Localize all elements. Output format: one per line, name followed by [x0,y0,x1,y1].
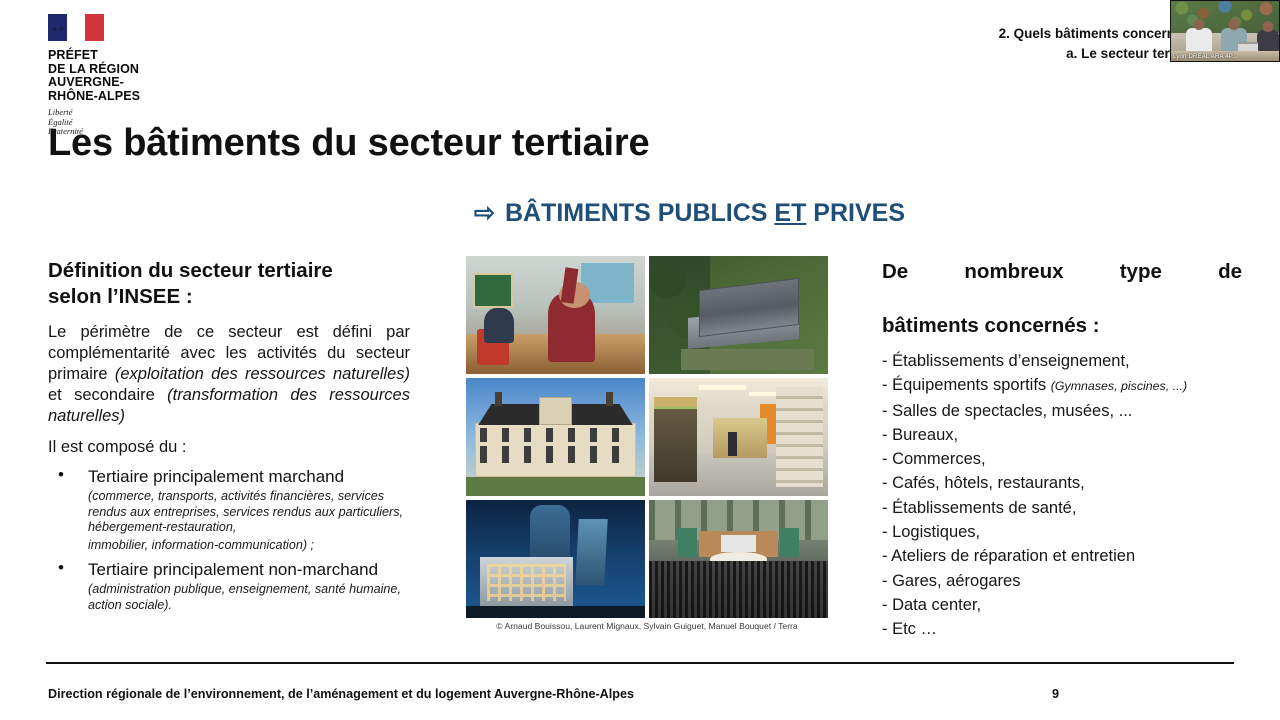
building-type-5: - Cafés, hôtels, restaurants, [882,474,1085,492]
bullet-main-1: Tertiaire principalement non-marchand [88,559,410,580]
building-types-list: - Établissements d’enseignement, - Équip… [882,349,1242,642]
bullet-sub-0: (commerce, transports, activités financi… [88,489,410,536]
photo-mairie [466,378,645,496]
building-type-2: - Salles de spectacles, musées, ... [882,402,1132,420]
webcam-person-1 [1186,28,1212,52]
photo-grid [466,256,828,618]
photo-classroom [466,256,645,374]
right-heading: De nombreux type de bâtiments concernés … [882,258,1242,339]
list-item: - Logistiques, [882,520,1242,544]
building-type-8: - Ateliers de réparation et entretien [882,547,1135,565]
definition-text-b: et secondaire [48,386,167,404]
building-type-3: - Bureaux, [882,426,958,444]
left-heading: Définition du secteur tertiaire selon l’… [48,258,410,310]
building-type-1: - Équipements sportifs [882,376,1051,394]
photo-office-towers [466,500,645,618]
list-item: - Commerces, [882,447,1242,471]
logo-line-1: PRÉFET [48,49,198,63]
bullet-sub-1: (administration publique, enseignement, … [88,582,410,613]
list-item: Tertiaire principalement non-marchand (a… [48,559,410,613]
right-heading-line-1: De nombreux type de [882,258,1242,312]
logo-line-3: AUVERGNE- [48,76,198,90]
compose-label: Il est composé du : [48,438,410,457]
building-type-11: - Etc … [882,620,937,638]
list-item: - Salles de spectacles, musées, ... [882,399,1242,423]
list-item: - Établissements de santé, [882,496,1242,520]
slide-subtitle: ⇨BÂTIMENTS PUBLICS ET PRIVES [474,198,905,228]
logo-line-4: RHÔNE-ALPES [48,90,198,104]
left-column: Définition du secteur tertiaire selon l’… [48,258,410,619]
list-item: - Data center, [882,593,1242,617]
bullet-main-0: Tertiaire principalement marchand [88,466,410,487]
list-item: - Cafés, hôtels, restaurants, [882,471,1242,495]
prefecture-logo: ▲● PRÉFET DE LA RÉGION AUVERGNE- RHÔNE-A… [48,14,198,137]
page-title: Les bâtiments du secteur tertiaire [48,122,649,165]
footer-divider [46,662,1234,664]
building-type-4: - Commerces, [882,450,986,468]
webcam-video-overlay[interactable]: Lyon DREAL ARA 4P... [1170,0,1280,62]
building-type-9: - Gares, aérogares [882,572,1020,590]
photo-supermarket [649,378,828,496]
french-flag-icon: ▲● [48,14,106,42]
building-type-0: - Établissements d’enseignement, [882,352,1130,370]
list-item: - Équipements sportifs (Gymnases, piscin… [882,373,1242,398]
list-item: - Gares, aérogares [882,569,1242,593]
webcam-person-3 [1257,30,1279,52]
left-heading-line-2: selon l’INSEE : [48,285,193,308]
footer-organisation: Direction régionale de l’environnement, … [48,687,634,701]
logo-line-2: DE LA RÉGION [48,63,198,77]
photo-aerial-hospital [649,256,828,374]
slide-root: ▲● PRÉFET DE LA RÉGION AUVERGNE- RHÔNE-A… [0,0,1280,720]
page-number: 9 [1052,687,1059,701]
building-type-10: - Data center, [882,596,981,614]
right-heading-line-2: bâtiments concernés : [882,314,1100,337]
list-item: - Ateliers de réparation et entretien [882,544,1242,568]
subtitle-part-2: PRIVES [806,199,905,227]
sector-bullet-list: Tertiaire principalement marchand (comme… [48,466,410,613]
photo-credit: © Arnaud Bouissou, Laurent Mignaux, Sylv… [466,621,828,631]
subtitle-part-1: BÂTIMENTS PUBLICS [505,199,774,227]
definition-italic-a: (exploitation des ressources naturelles) [115,365,410,383]
building-type-6: - Établissements de santé, [882,499,1076,517]
bullet-sub2-0: immobilier, information-communication) ; [88,538,410,554]
list-item: - Etc … [882,617,1242,641]
photo-conference-hall [649,500,828,618]
subtitle-underlined: ET [774,199,806,227]
prefecture-name: PRÉFET DE LA RÉGION AUVERGNE- RHÔNE-ALPE… [48,49,198,103]
list-item: - Établissements d’enseignement, [882,349,1242,373]
list-item: Tertiaire principalement marchand (comme… [48,466,410,553]
left-heading-line-1: Définition du secteur tertiaire [48,259,333,282]
right-column: De nombreux type de bâtiments concernés … [882,258,1242,642]
arrow-right-icon: ⇨ [474,199,495,227]
building-type-1-note: (Gymnases, piscines, ...) [1051,379,1187,393]
webcam-participant-label: Lyon DREAL ARA 4P... [1173,54,1238,60]
marianne-icon: ▲● [50,18,102,38]
building-type-7: - Logistiques, [882,523,980,541]
definition-paragraph: Le périmètre de ce secteur est défini pa… [48,322,410,427]
list-item: - Bureaux, [882,423,1242,447]
